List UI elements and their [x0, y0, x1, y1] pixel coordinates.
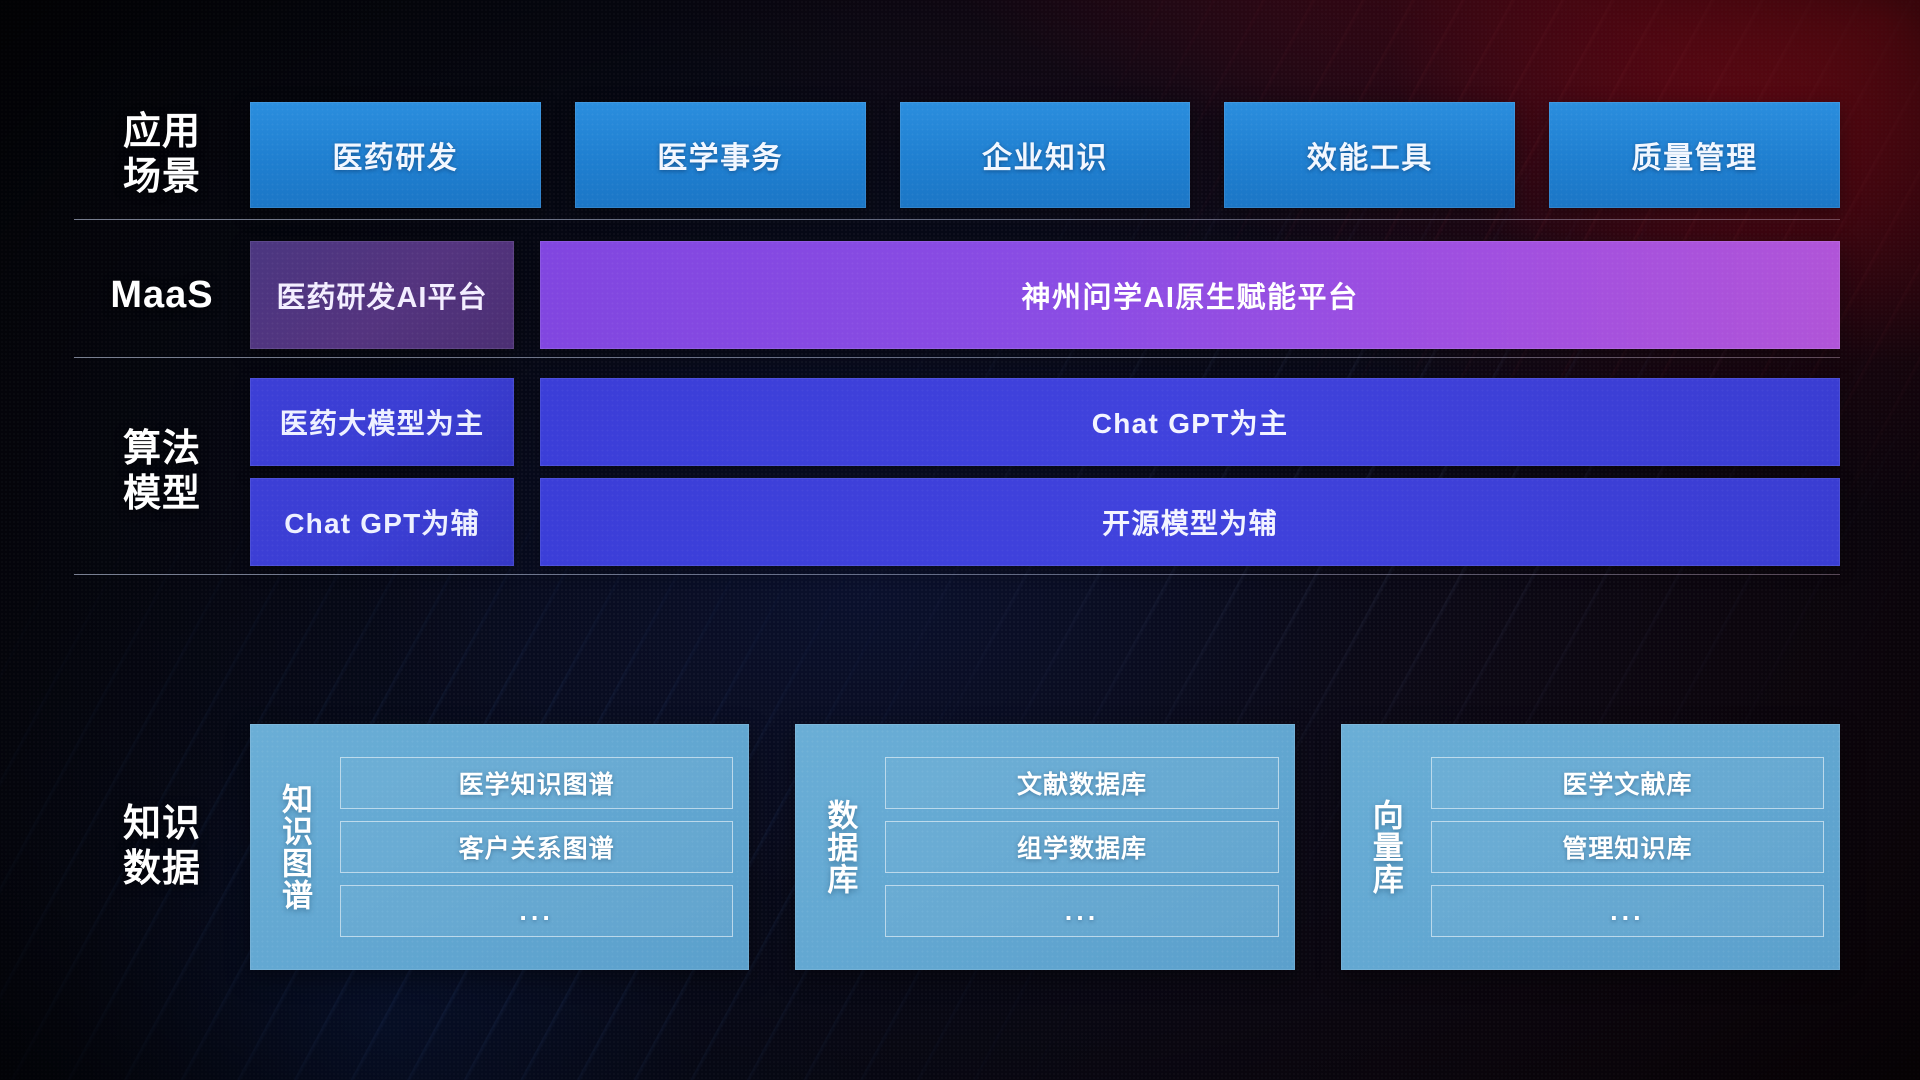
row-application-scenarios: 应用 场景 医药研发 医学事务 企业知识 效能工具 质量管理 [74, 92, 1840, 218]
divider-after-algorithm-model [74, 574, 1840, 575]
application-scenarios-body: 医药研发 医学事务 企业知识 效能工具 质量管理 [250, 102, 1840, 208]
row-maas: MaaS 医药研发AI平台 神州问学AI原生赋能平台 [74, 240, 1840, 350]
knowledge-data-track: 知识图谱 医学知识图谱 客户关系图谱 ... 数据库 文献数据库 组学数据库 .… [250, 724, 1840, 970]
app-box-efficiency-tools[interactable]: 效能工具 [1224, 102, 1515, 208]
diagram-stage: 应用 场景 医药研发 医学事务 企业知识 效能工具 质量管理 MaaS 医药研发… [0, 0, 1920, 1080]
maas-track: 医药研发AI平台 神州问学AI原生赋能平台 [250, 241, 1840, 349]
app-box-quality-management[interactable]: 质量管理 [1549, 102, 1840, 208]
knowledge-card-title-knowledge-graph: 知识图谱 [262, 738, 326, 956]
knowledge-card-database[interactable]: 数据库 文献数据库 组学数据库 ... [795, 724, 1294, 970]
application-scenarios-track: 医药研发 医学事务 企业知识 效能工具 质量管理 [250, 102, 1840, 208]
knowledge-card-knowledge-graph[interactable]: 知识图谱 医学知识图谱 客户关系图谱 ... [250, 724, 749, 970]
knowledge-card-items-database: 文献数据库 组学数据库 ... [885, 738, 1278, 956]
row-label-algorithm-model: 算法 模型 [74, 427, 250, 517]
app-box-medicine-rd[interactable]: 医药研发 [250, 102, 541, 208]
knowledge-item-more-vector-store[interactable]: ... [1431, 885, 1824, 937]
knowledge-item-omics-database[interactable]: 组学数据库 [885, 821, 1278, 873]
knowledge-item-medical-literature-store[interactable]: 医学文献库 [1431, 757, 1824, 809]
algorithm-model-body: 医药大模型为主 Chat GPT为主 Chat GPT为辅 开源模型为辅 [250, 378, 1840, 566]
knowledge-card-items-vector-store: 医学文献库 管理知识库 ... [1431, 738, 1824, 956]
knowledge-data-body: 知识图谱 医学知识图谱 客户关系图谱 ... 数据库 文献数据库 组学数据库 .… [250, 724, 1840, 970]
knowledge-item-more-knowledge-graph[interactable]: ... [340, 885, 733, 937]
app-box-medical-affairs[interactable]: 医学事务 [575, 102, 866, 208]
knowledge-card-items-knowledge-graph: 医学知识图谱 客户关系图谱 ... [340, 738, 733, 956]
algorithm-model-line-primary: 医药大模型为主 Chat GPT为主 [250, 378, 1840, 466]
algo-box-chatgpt-secondary[interactable]: Chat GPT为辅 [250, 478, 514, 566]
maas-body: 医药研发AI平台 神州问学AI原生赋能平台 [250, 241, 1840, 349]
algo-box-opensource-model-secondary[interactable]: 开源模型为辅 [540, 478, 1840, 566]
knowledge-card-title-vector-store: 向量库 [1353, 738, 1417, 956]
knowledge-item-literature-database[interactable]: 文献数据库 [885, 757, 1278, 809]
divider-after-maas [74, 357, 1840, 358]
row-label-maas: MaaS [74, 273, 250, 318]
row-knowledge-data: 知识 数据 知识图谱 医学知识图谱 客户关系图谱 ... 数据库 [74, 722, 1840, 972]
divider-after-application-scenarios [74, 219, 1840, 220]
algorithm-model-stack: 医药大模型为主 Chat GPT为主 Chat GPT为辅 开源模型为辅 [250, 378, 1840, 566]
knowledge-item-medical-knowledge-graph[interactable]: 医学知识图谱 [340, 757, 733, 809]
algorithm-model-line-secondary: Chat GPT为辅 开源模型为辅 [250, 478, 1840, 566]
knowledge-card-vector-store[interactable]: 向量库 医学文献库 管理知识库 ... [1341, 724, 1840, 970]
algo-box-chatgpt-primary[interactable]: Chat GPT为主 [540, 378, 1840, 466]
maas-box-shenzhou-wenxue-platform[interactable]: 神州问学AI原生赋能平台 [540, 241, 1840, 349]
maas-box-medicine-rd-ai-platform[interactable]: 医药研发AI平台 [250, 241, 514, 349]
knowledge-card-title-database: 数据库 [807, 738, 871, 956]
app-box-enterprise-knowledge[interactable]: 企业知识 [900, 102, 1191, 208]
algo-box-medicine-large-model-primary[interactable]: 医药大模型为主 [250, 378, 514, 466]
row-label-application-scenarios: 应用 场景 [74, 110, 250, 200]
row-algorithm-model: 算法 模型 医药大模型为主 Chat GPT为主 Chat GPT为辅 开源模型… [74, 378, 1840, 566]
diagram-content: 应用 场景 医药研发 医学事务 企业知识 效能工具 质量管理 MaaS 医药研发… [0, 0, 1920, 1080]
knowledge-item-management-knowledge-store[interactable]: 管理知识库 [1431, 821, 1824, 873]
row-label-knowledge-data: 知识 数据 [74, 802, 250, 892]
knowledge-item-customer-relation-graph[interactable]: 客户关系图谱 [340, 821, 733, 873]
knowledge-item-more-database[interactable]: ... [885, 885, 1278, 937]
